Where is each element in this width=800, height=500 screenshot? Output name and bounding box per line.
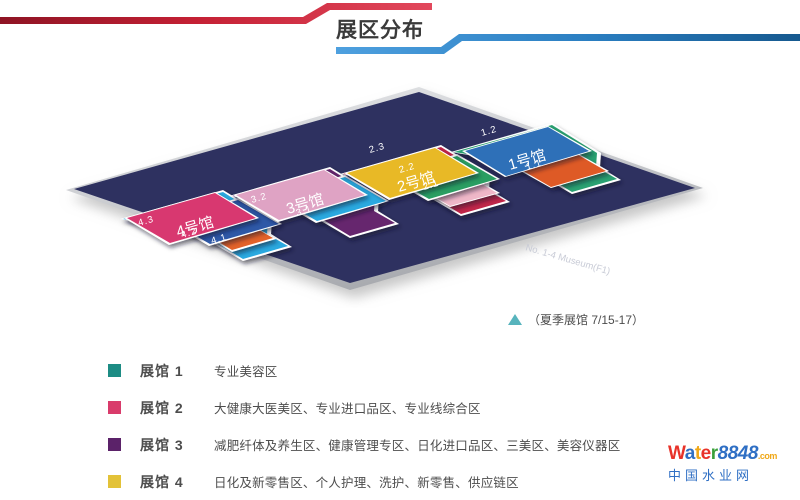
legend-swatch-hall-2: [108, 401, 121, 414]
legend: 展馆 1 专业美容区 展馆 2 大健康大医美区、专业进口品区、专业线综合区 展馆…: [108, 352, 708, 500]
season-note-text: （夏季展馆 7/15-17）: [528, 311, 644, 328]
legend-hall-label-3: 展馆 3: [140, 435, 214, 455]
legend-desc-2: 大健康大医美区、专业进口品区、专业线综合区: [214, 398, 481, 417]
watermark-letter-r: r: [711, 443, 718, 464]
header-banner: 展区分布: [0, 0, 800, 72]
season-note: （夏季展馆 7/15-17）: [508, 311, 644, 328]
legend-hall-label-4: 展馆 4: [140, 472, 214, 492]
legend-hall-label-1: 展馆 1: [140, 361, 214, 381]
watermark-letter-e: e: [701, 443, 711, 464]
watermark-letter-w: W: [668, 443, 685, 464]
watermark-number: 8848: [718, 443, 758, 464]
legend-row-hall-2[interactable]: 展馆 2 大健康大医美区、专业进口品区、专业线综合区: [108, 389, 708, 426]
legend-desc-4: 日化及新零售区、个人护理、洗护、新零售、供应链区: [214, 472, 519, 491]
legend-swatch-hall-3: [108, 438, 121, 451]
watermark-logo: Water8848.com 中国水业网: [668, 444, 790, 488]
floorplan-stage: 4.3 4.2 4.1 3.2 3.1 2.3 2.2 2.1 1.2 1.1 …: [0, 78, 800, 308]
legend-swatch-hall-4: [108, 475, 121, 488]
triangle-up-icon: [508, 314, 522, 325]
page-title: 展区分布: [336, 14, 424, 44]
watermark-wordmark: Water8848.com: [668, 444, 790, 466]
legend-hall-label-2: 展馆 2: [140, 398, 214, 418]
legend-row-hall-1[interactable]: 展馆 1 专业美容区: [108, 352, 708, 389]
slide-root: 展区分布: [0, 0, 800, 492]
watermark-chinese: 中国水业网: [668, 467, 790, 485]
legend-row-hall-4[interactable]: 展馆 4 日化及新零售区、个人护理、洗护、新零售、供应链区: [108, 463, 708, 500]
legend-desc-3: 减肥纤体及养生区、健康管理专区、日化进口品区、三美区、美容仪器区: [214, 435, 620, 454]
legend-swatch-hall-1: [108, 364, 121, 377]
legend-row-hall-3[interactable]: 展馆 3 减肥纤体及养生区、健康管理专区、日化进口品区、三美区、美容仪器区: [108, 426, 708, 463]
platform-caption: No. 1-4 Museum(F1): [524, 242, 611, 277]
watermark-letter-a: a: [685, 443, 695, 464]
legend-desc-1: 专业美容区: [214, 361, 278, 380]
watermark-suffix: .com: [758, 451, 777, 461]
